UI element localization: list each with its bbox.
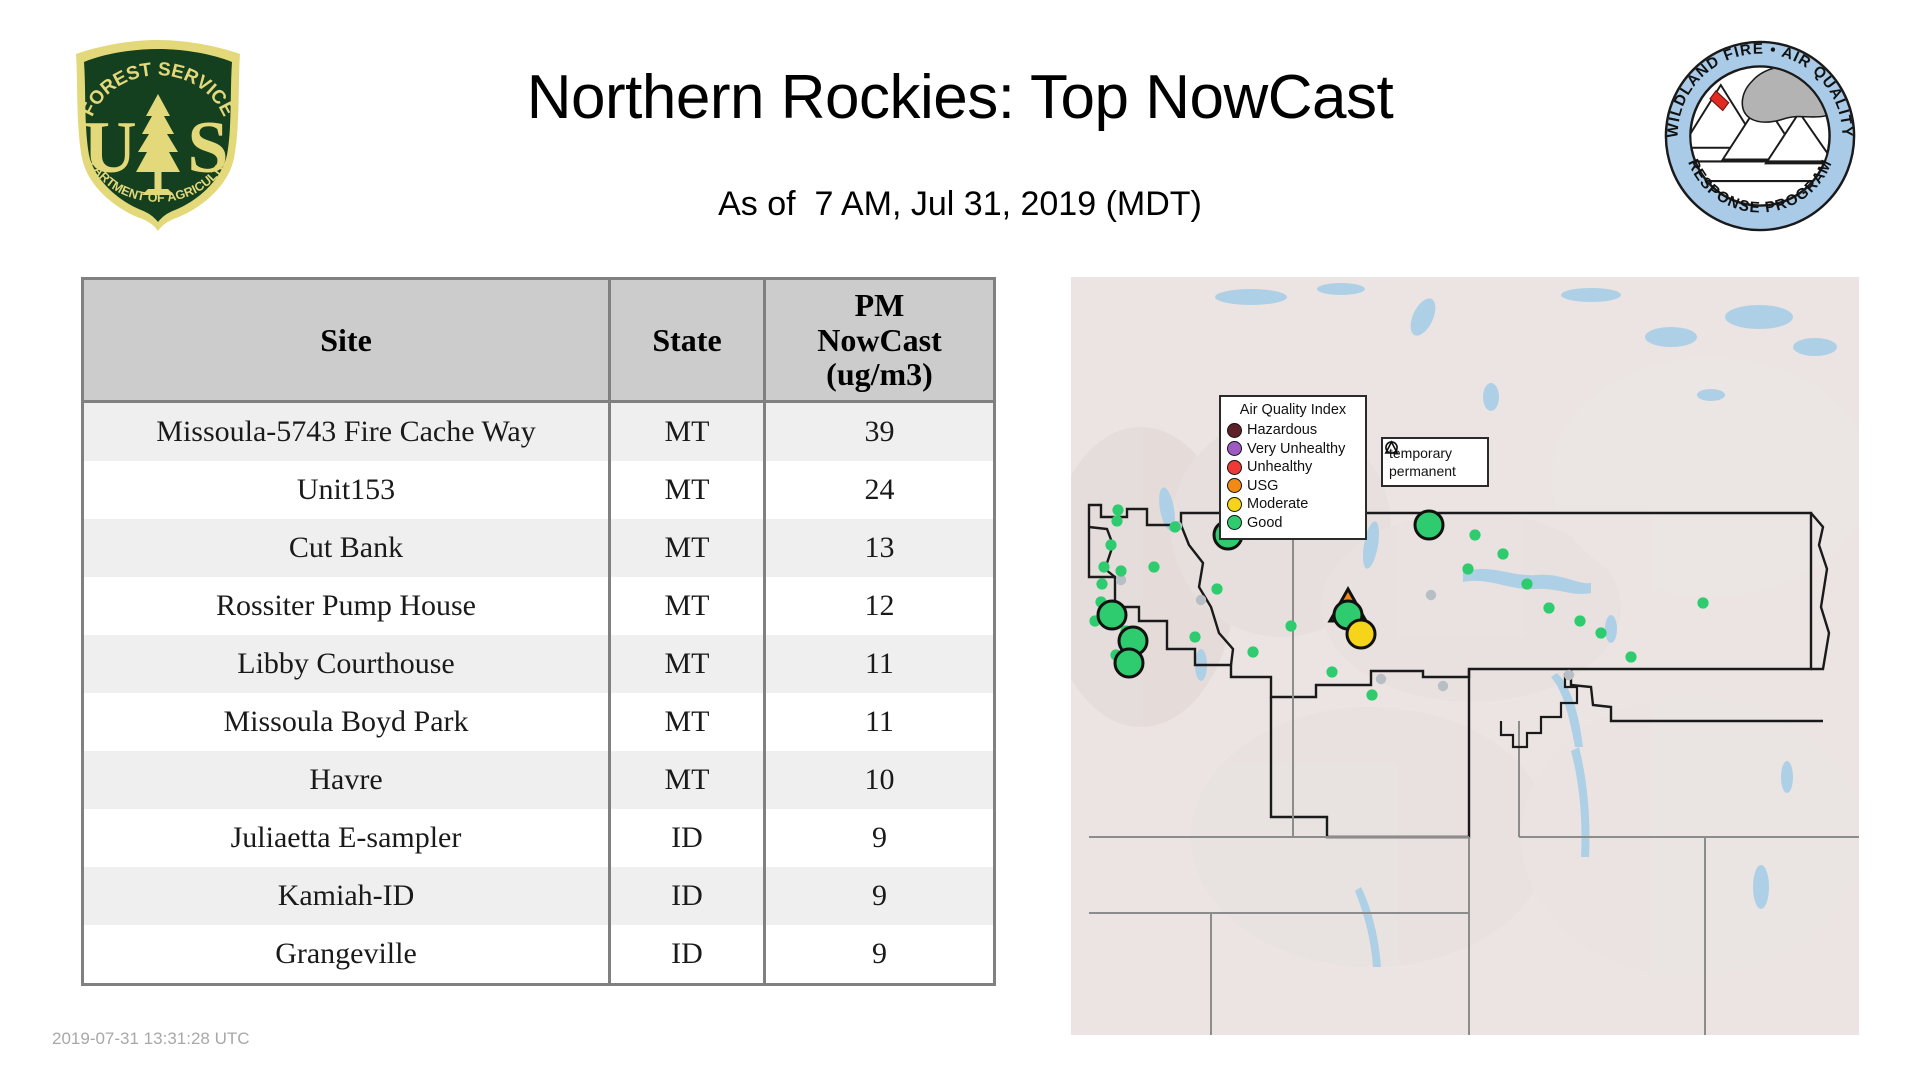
site-cell: Missoula Boyd Park (83, 693, 610, 751)
temporary-monitor-marker[interactable] (1347, 620, 1375, 648)
generated-timestamp: 2019-07-31 13:31:28 UTC (52, 1029, 250, 1049)
pm-nowcast-cell: 13 (765, 519, 995, 577)
wfaqrp-logo: WILDLAND FIRE • AIR QUALITY RESPONSE PRO… (1662, 38, 1858, 234)
pm-nowcast-cell: 24 (765, 461, 995, 519)
state-cell: MT (610, 577, 765, 635)
aqi-legend-label: Hazardous (1247, 423, 1317, 438)
table-row[interactable]: Juliaetta E-samplerID9 (83, 809, 995, 867)
column-header-state[interactable]: State (610, 279, 765, 402)
nowcast-table: Site State PM NowCast (ug/m3) Missoula-5… (81, 277, 996, 986)
aqi-legend-row: Very Unhealthy (1227, 440, 1359, 459)
site-cell: Unit153 (83, 461, 610, 519)
table-body: Missoula-5743 Fire Cache WayMT39Unit153M… (83, 402, 995, 985)
monitor-dot[interactable] (1285, 620, 1296, 631)
column-header-pm-nowcast[interactable]: PM NowCast (ug/m3) (765, 279, 995, 402)
shield-letter-u: U (83, 107, 136, 189)
temporary-monitor-marker[interactable] (1115, 649, 1143, 677)
wfaqrp-logo-svg: WILDLAND FIRE • AIR QUALITY RESPONSE PRO… (1662, 38, 1858, 234)
site-cell: Libby Courthouse (83, 635, 610, 693)
table-row[interactable]: Missoula-5743 Fire Cache WayMT39 (83, 402, 995, 462)
aqi-legend-title: Air Quality Index (1227, 402, 1359, 418)
table-header: Site State PM NowCast (ug/m3) (83, 279, 995, 402)
aqi-legend-row: Good (1227, 514, 1359, 533)
state-cell: MT (610, 402, 765, 462)
pm-nowcast-cell: 10 (765, 751, 995, 809)
pm-nowcast-cell: 39 (765, 402, 995, 462)
column-header-site[interactable]: Site (83, 279, 610, 402)
legend-row-permanent: permanent (1389, 462, 1481, 480)
site-cell: Cut Bank (83, 519, 610, 577)
monitor-dot[interactable] (1148, 561, 1159, 572)
map-svg (1071, 277, 1859, 1035)
inactive-monitor-dot (1196, 595, 1206, 605)
inactive-monitor-dot (1564, 670, 1574, 680)
monitor-dot[interactable] (1326, 666, 1337, 677)
monitor-type-legend: temporary permanent (1381, 437, 1489, 487)
table-row[interactable]: Kamiah-IDID9 (83, 867, 995, 925)
nowcast-report-page: FOREST SERVICE DEPARTMENT OF AGRICULTURE… (0, 0, 1920, 1080)
aqi-swatch-icon (1227, 478, 1242, 493)
monitor-dot[interactable] (1366, 689, 1377, 700)
table-header-row: Site State PM NowCast (ug/m3) (83, 279, 995, 402)
aqi-swatch-icon (1227, 515, 1242, 530)
site-cell: Havre (83, 751, 610, 809)
pm-nowcast-cell: 9 (765, 925, 995, 985)
page-subtitle: As of 7 AM, Jul 31, 2019 (MDT) (310, 185, 1610, 224)
pm-nowcast-cell: 12 (765, 577, 995, 635)
pm-header-line-3: (ug/m3) (766, 357, 993, 392)
inactive-monitor-dot (1438, 681, 1448, 691)
pm-nowcast-cell: 9 (765, 867, 995, 925)
legend-row-temporary: temporary (1389, 444, 1481, 462)
pm-nowcast-cell: 9 (765, 809, 995, 867)
pm-nowcast-cell: 11 (765, 693, 995, 751)
monitor-dot[interactable] (1211, 583, 1222, 594)
air-quality-index-legend: Air Quality Index HazardousVery Unhealth… (1219, 395, 1367, 540)
site-cell: Missoula-5743 Fire Cache Way (83, 402, 610, 462)
aqi-legend-label: Unhealthy (1247, 460, 1312, 475)
monitor-dot[interactable] (1595, 627, 1606, 638)
state-cell: ID (610, 867, 765, 925)
us-forest-service-shield-logo: FOREST SERVICE DEPARTMENT OF AGRICULTURE… (58, 32, 258, 232)
monitor-dot[interactable] (1697, 597, 1708, 608)
page-title: Northern Rockies: Top NowCast (310, 62, 1610, 133)
aqi-legend-label: Moderate (1247, 497, 1308, 512)
aqi-legend-row: Hazardous (1227, 421, 1359, 440)
monitor-dot[interactable] (1469, 529, 1480, 540)
table-row[interactable]: HavreMT10 (83, 751, 995, 809)
aqi-legend-label: Good (1247, 516, 1282, 531)
state-cell: MT (610, 751, 765, 809)
aqi-legend-row: Unhealthy (1227, 458, 1359, 477)
monitor-dot[interactable] (1112, 504, 1123, 515)
monitor-dot[interactable] (1111, 515, 1122, 526)
aqi-legend-row: Moderate (1227, 495, 1359, 514)
monitor-dot[interactable] (1521, 578, 1532, 589)
monitor-dot[interactable] (1189, 631, 1200, 642)
inactive-monitor-dot (1376, 674, 1386, 684)
monitor-dot[interactable] (1574, 615, 1585, 626)
nowcast-table-container: Site State PM NowCast (ug/m3) Missoula-5… (81, 277, 993, 986)
monitor-dot[interactable] (1105, 539, 1116, 550)
state-cell: MT (610, 693, 765, 751)
aqi-legend-label: Very Unhealthy (1247, 442, 1345, 457)
air-quality-map[interactable]: Air Quality Index HazardousVery Unhealth… (1071, 277, 1859, 1035)
table-row[interactable]: Rossiter Pump HouseMT12 (83, 577, 995, 635)
permanent-triangle-icon (1383, 439, 1400, 456)
site-cell: Grangeville (83, 925, 610, 985)
shield-letter-s: S (187, 107, 228, 189)
state-cell: ID (610, 925, 765, 985)
aqi-swatch-icon (1227, 497, 1242, 512)
aqi-swatch-icon (1227, 423, 1242, 438)
aqi-legend-label: USG (1247, 479, 1278, 494)
table-row[interactable]: Missoula Boyd ParkMT11 (83, 693, 995, 751)
monitor-dot[interactable] (1098, 561, 1109, 572)
table-row[interactable]: Cut BankMT13 (83, 519, 995, 577)
state-cell: MT (610, 635, 765, 693)
monitor-dot[interactable] (1169, 521, 1180, 532)
state-cell: MT (610, 519, 765, 577)
monitor-dot[interactable] (1625, 651, 1636, 662)
site-cell: Rossiter Pump House (83, 577, 610, 635)
temporary-monitor-marker[interactable] (1098, 601, 1126, 629)
table-row[interactable]: GrangevilleID9 (83, 925, 995, 985)
site-cell: Juliaetta E-sampler (83, 809, 610, 867)
monitor-dot[interactable] (1247, 646, 1258, 657)
state-cell: MT (610, 461, 765, 519)
aqi-swatch-icon (1227, 460, 1242, 475)
usfs-shield-svg: FOREST SERVICE DEPARTMENT OF AGRICULTURE… (58, 32, 258, 232)
table-row[interactable]: Unit153MT24 (83, 461, 995, 519)
monitor-dot[interactable] (1096, 578, 1107, 589)
table-row[interactable]: Libby CourthouseMT11 (83, 635, 995, 693)
monitor-dot[interactable] (1543, 602, 1554, 613)
monitor-dot[interactable] (1462, 563, 1473, 574)
inactive-monitor-dot (1426, 590, 1436, 600)
temporary-monitor-marker[interactable] (1415, 511, 1443, 539)
pm-header-line-1: PM (766, 288, 993, 323)
pm-nowcast-cell: 11 (765, 635, 995, 693)
monitor-dot[interactable] (1497, 548, 1508, 559)
aqi-legend-row: USG (1227, 477, 1359, 496)
site-cell: Kamiah-ID (83, 867, 610, 925)
state-cell: ID (610, 809, 765, 867)
aqi-swatch-icon (1227, 441, 1242, 456)
aqi-legend-items: HazardousVery UnhealthyUnhealthyUSGModer… (1227, 421, 1359, 532)
legend-label-permanent: permanent (1389, 464, 1456, 478)
monitor-dot[interactable] (1115, 565, 1126, 576)
pm-header-line-2: NowCast (766, 323, 993, 358)
